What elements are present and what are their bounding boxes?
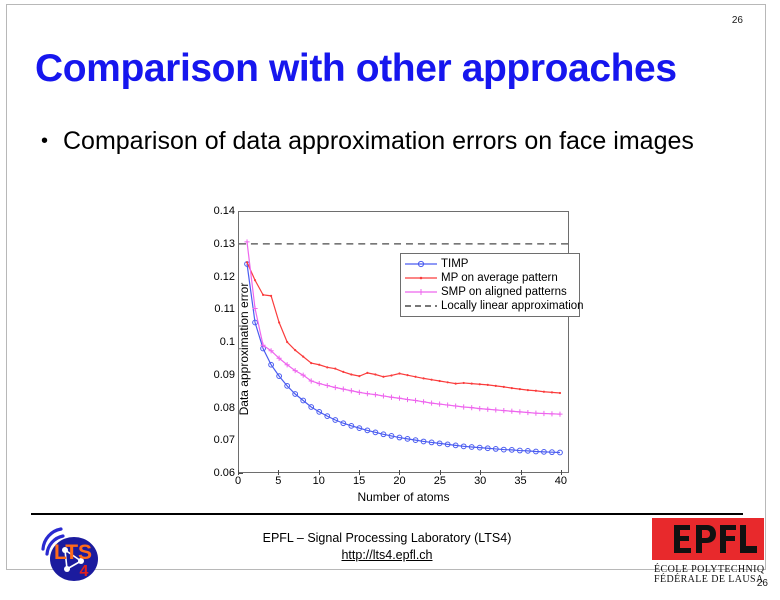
- series-marker: [286, 341, 288, 343]
- series-marker: [525, 410, 530, 415]
- page-number-top: 26: [732, 15, 743, 26]
- series-marker: [390, 374, 392, 376]
- series-marker: [479, 383, 481, 385]
- footer-line-1: EPFL – Signal Processing Laboratory (LTS…: [187, 530, 587, 547]
- series-marker: [350, 373, 352, 375]
- series-marker: [294, 349, 296, 351]
- legend-item: MP on average pattern: [404, 271, 575, 285]
- series-marker: [413, 398, 418, 403]
- comparison-chart: 0.060.070.080.090.10.110.120.130.14 0510…: [192, 201, 582, 506]
- legend-swatch-icon: [404, 286, 438, 298]
- y-tick-label: 0.08: [193, 402, 235, 414]
- page-number-bottom: 26: [757, 578, 768, 589]
- x-tick-mark: [399, 470, 400, 475]
- series-marker: [437, 401, 442, 406]
- y-axis-tick-labels: 0.060.070.080.090.10.110.120.130.14: [192, 211, 235, 473]
- series-marker: [406, 374, 408, 376]
- series-marker: [405, 397, 410, 402]
- bullet-list: • Comparison of data approximation error…: [37, 125, 697, 158]
- series-marker: [325, 383, 330, 388]
- series-marker: [541, 411, 546, 416]
- series-marker: [501, 408, 506, 413]
- bullet-marker-icon: •: [37, 125, 63, 158]
- lts4-logo: LTS 4: [37, 523, 107, 585]
- x-tick-mark: [521, 470, 522, 475]
- y-tick-label: 0.07: [193, 434, 235, 446]
- series-marker: [366, 372, 368, 374]
- series-marker: [487, 384, 489, 386]
- series-marker: [463, 382, 465, 384]
- y-tick-label: 0.06: [193, 467, 235, 479]
- footer-link[interactable]: http://lts4.epfl.ch: [341, 548, 432, 562]
- lts4-logo-main-text: LTS: [54, 541, 92, 564]
- x-tick-label: 25: [434, 475, 446, 487]
- series-marker: [389, 395, 394, 400]
- bullet-text: Comparison of data approximation errors …: [63, 125, 697, 158]
- series-marker: [557, 412, 562, 417]
- x-tick-label: 35: [514, 475, 526, 487]
- series-marker: [398, 372, 400, 374]
- series-marker: [471, 383, 473, 385]
- series-marker: [493, 407, 498, 412]
- series-marker: [535, 390, 537, 392]
- legend-item: SMP on aligned patterns: [404, 285, 575, 299]
- plot-svg: [239, 212, 568, 472]
- x-tick-label: 10: [313, 475, 325, 487]
- legend-item: Locally linear approximation: [404, 299, 575, 313]
- x-tick-mark: [440, 470, 441, 475]
- series-marker: [358, 375, 360, 377]
- series-marker: [429, 401, 434, 406]
- chart-legend: TIMPMP on average patternSMP on aligned …: [400, 253, 580, 317]
- series-marker: [439, 380, 441, 382]
- footer-text: EPFL – Signal Processing Laboratory (LTS…: [187, 530, 587, 564]
- lts4-logo-sub-text: 4: [80, 563, 89, 580]
- series-marker: [421, 399, 426, 404]
- series-marker: [503, 386, 505, 388]
- series-marker: [357, 390, 362, 395]
- series-marker: [447, 381, 449, 383]
- y-axis-title: Data approximation error: [237, 229, 251, 469]
- series-marker: [382, 376, 384, 378]
- series-marker: [341, 387, 346, 392]
- series-marker: [461, 404, 466, 409]
- series-marker: [310, 362, 312, 364]
- epfl-logo-svg: ÉCOLE POLYTECHNIQUE FÉDÉRALE DE LAUSANNE: [652, 518, 764, 584]
- plot-area: [238, 211, 569, 473]
- page-title: Comparison with other approaches: [35, 47, 747, 91]
- series-marker: [551, 391, 553, 393]
- y-tick-label: 0.11: [193, 303, 235, 315]
- series-marker: [559, 392, 561, 394]
- series-marker: [511, 387, 513, 389]
- y-tick-label: 0.13: [193, 238, 235, 250]
- legend-swatch-icon: [404, 300, 438, 312]
- x-tick-label: 40: [555, 475, 567, 487]
- series-marker: [477, 406, 482, 411]
- series-marker: [342, 371, 344, 373]
- series-marker: [270, 295, 272, 297]
- x-tick-label: 30: [474, 475, 486, 487]
- series-marker: [533, 411, 538, 416]
- x-tick-label: 15: [353, 475, 365, 487]
- legend-item: TIMP: [404, 257, 575, 271]
- y-tick-label: 0.1: [193, 336, 235, 348]
- x-tick-label: 0: [235, 475, 241, 487]
- series-marker: [430, 379, 432, 381]
- y-tick-label: 0.14: [193, 205, 235, 217]
- series-marker: [302, 356, 304, 358]
- x-tick-label: 5: [275, 475, 281, 487]
- legend-label: TIMP: [441, 258, 468, 270]
- list-item: • Comparison of data approximation error…: [37, 125, 697, 158]
- series-marker: [509, 409, 514, 414]
- series-marker: [527, 389, 529, 391]
- series-marker: [445, 402, 450, 407]
- series-marker: [495, 385, 497, 387]
- series-marker: [262, 294, 264, 296]
- epfl-logo-line-2: FÉDÉRALE DE LAUSANNE: [654, 573, 764, 584]
- series-marker: [365, 391, 370, 396]
- x-tick-mark: [359, 470, 360, 475]
- x-tick-mark: [278, 470, 279, 475]
- series-marker: [374, 373, 376, 375]
- series-marker: [549, 411, 554, 416]
- series-marker: [469, 405, 474, 410]
- y-tick-label: 0.09: [193, 369, 235, 381]
- epfl-logo: ÉCOLE POLYTECHNIQUE FÉDÉRALE DE LAUSANNE: [652, 518, 764, 584]
- series-marker: [254, 279, 256, 281]
- legend-swatch-icon: [404, 258, 438, 270]
- x-tick-mark: [561, 470, 562, 475]
- slide-canvas: 26 Comparison with other approaches • Co…: [6, 4, 766, 570]
- x-tick-mark: [480, 470, 481, 475]
- series-marker: [422, 377, 424, 379]
- series-marker: [517, 409, 522, 414]
- legend-swatch-icon: [404, 272, 438, 284]
- series-marker: [485, 407, 490, 412]
- series-marker: [455, 383, 457, 385]
- series-marker: [349, 388, 354, 393]
- x-tick-label: 20: [393, 475, 405, 487]
- series-marker: [519, 388, 521, 390]
- series-marker: [333, 385, 338, 390]
- lts4-logo-svg: LTS 4: [37, 523, 107, 585]
- series-marker: [318, 364, 320, 366]
- legend-label: MP on average pattern: [441, 272, 558, 284]
- series-marker: [381, 393, 386, 398]
- series-marker: [334, 368, 336, 370]
- legend-label: Locally linear approximation: [441, 300, 584, 312]
- series-marker: [397, 396, 402, 401]
- series-marker: [453, 403, 458, 408]
- x-tick-mark: [319, 470, 320, 475]
- y-tick-label: 0.12: [193, 271, 235, 283]
- series-marker: [278, 321, 280, 323]
- footer-divider: [31, 513, 743, 515]
- legend-label: SMP on aligned patterns: [441, 286, 567, 298]
- series-marker: [317, 381, 322, 386]
- x-axis-title: Number of atoms: [238, 490, 569, 504]
- series-marker: [373, 392, 378, 397]
- series-marker: [414, 376, 416, 378]
- series-marker: [543, 391, 545, 393]
- x-tick-mark: [238, 470, 239, 475]
- series-marker: [326, 366, 328, 368]
